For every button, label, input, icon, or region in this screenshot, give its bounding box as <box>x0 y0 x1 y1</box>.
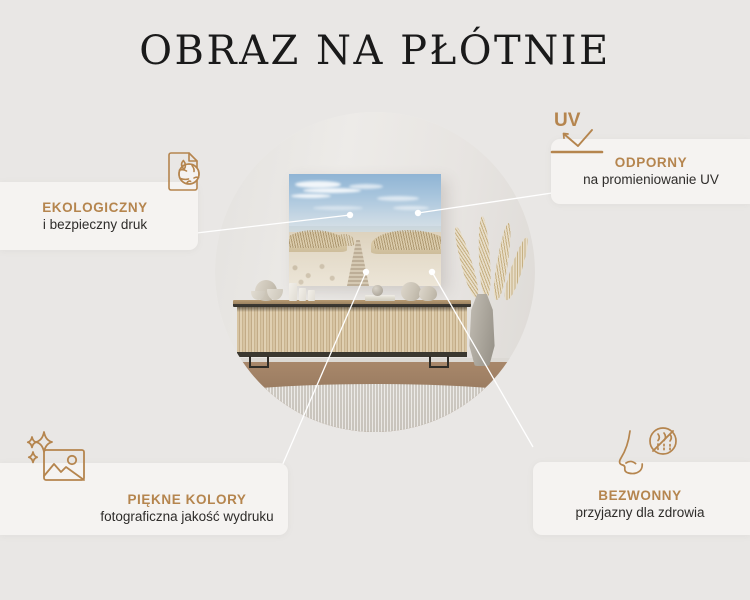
room-scene <box>215 112 535 432</box>
product-photo-circle <box>215 112 535 432</box>
feature-text-eco: EKOLOGICZNY i bezpieczny druk <box>4 200 186 233</box>
decor-sphere <box>372 285 383 296</box>
pillar-candle <box>299 288 306 301</box>
feature-title-colors: PIĘKNE KOLORY <box>92 492 282 508</box>
sideboard <box>233 300 471 362</box>
feature-subtitle-eco: i bezpieczny druk <box>4 216 186 234</box>
cloud <box>349 184 383 189</box>
cloud <box>377 196 419 201</box>
cloud <box>313 206 363 210</box>
round-vase <box>419 286 437 301</box>
feature-text-colors: PIĘKNE KOLORY fotograficzna jakość wydru… <box>92 492 282 525</box>
document-globe-leaf-icon <box>158 147 210 199</box>
cloud <box>295 181 341 188</box>
feature-text-uv: ODPORNY na promieniowanie UV <box>556 155 746 188</box>
dune-grass <box>373 230 441 250</box>
feature-title-eco: EKOLOGICZNY <box>4 200 186 216</box>
rug <box>215 384 535 432</box>
sideboard-fluted-front <box>237 307 467 353</box>
round-vase <box>401 282 421 301</box>
infographic-canvas: OBRAZ NA PŁÓTNIE <box>0 0 750 600</box>
sideboard-shadow <box>237 307 467 312</box>
feature-text-odor: BEZWONNY przyjazny dla zdrowia <box>540 488 740 521</box>
page-title: OBRAZ NA PŁÓTNIE <box>0 28 750 74</box>
no-smell-nose-icon <box>608 423 688 485</box>
feature-subtitle-colors: fotograficzna jakość wydruku <box>92 508 282 526</box>
photo-sparkle-icon <box>24 428 90 490</box>
uv-icon-label: UV <box>554 110 581 131</box>
feature-title-uv: ODPORNY <box>556 155 746 171</box>
pillar-candle <box>308 290 315 301</box>
sand-texture <box>289 260 349 286</box>
cloud <box>393 206 429 210</box>
sideboard-top <box>233 300 471 307</box>
feature-subtitle-uv: na promieniowanie UV <box>556 171 746 189</box>
sideboard-leg-bar <box>249 366 269 368</box>
canvas-artwork <box>289 174 441 286</box>
dune-grass <box>333 234 355 246</box>
sideboard-plinth <box>237 352 467 357</box>
feature-title-odor: BEZWONNY <box>540 488 740 504</box>
uv-ray-reflect-icon: UV <box>548 108 620 160</box>
stacked-books <box>365 295 395 301</box>
pillar-candle <box>289 283 297 301</box>
feature-subtitle-odor: przyjazny dla zdrowia <box>540 504 740 522</box>
cloud <box>303 188 361 193</box>
cloud <box>291 194 331 198</box>
sideboard-leg-bar <box>429 366 449 368</box>
